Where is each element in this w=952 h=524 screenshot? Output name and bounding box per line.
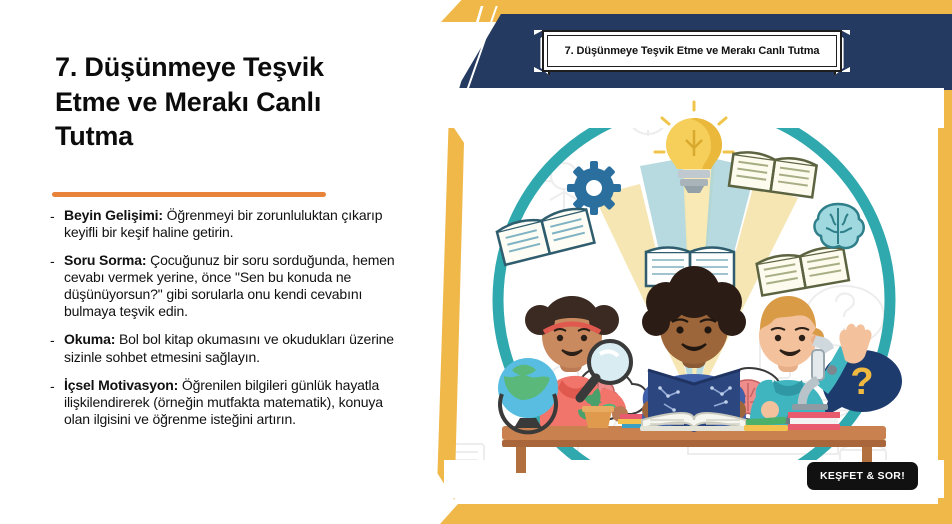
title-divider	[52, 192, 326, 197]
bullet-list: - Beyin Gelişimi: Öğrenmeyi bir zorunlul…	[50, 207, 400, 439]
question-mark-glyph: ?	[850, 361, 873, 403]
bullet-marker: -	[50, 377, 64, 395]
slide: 7. Düşünmeye Teşvik Etme ve Merakı Canlı…	[0, 0, 952, 524]
list-item-text: Soru Sorma: Çocuğunuz bir soru sorduğund…	[64, 252, 400, 320]
list-item: - İçsel Motivasyon: Öğrenilen bilgileri …	[50, 377, 400, 428]
list-item-text: Beyin Gelişimi: Öğrenmeyi bir zorunluluk…	[64, 207, 400, 241]
open-book-icon	[496, 205, 595, 265]
list-item: - Beyin Gelişimi: Öğrenmeyi bir zorunlul…	[50, 207, 400, 241]
boy-reading-book	[640, 266, 748, 432]
list-item-lead: İçsel Motivasyon:	[64, 377, 178, 393]
bullet-marker: -	[50, 252, 64, 270]
right-visual-panel: 7. Düşünmeye Teşvik Etme ve Merakı Canlı…	[430, 0, 952, 524]
bullet-marker: -	[50, 207, 64, 225]
banner-title: 7. Düşünmeye Teşvik Etme ve Merakı Canlı…	[534, 30, 850, 72]
list-item-lead: Beyin Gelişimi:	[64, 207, 163, 223]
list-item-lead: Okuma:	[64, 331, 115, 347]
status-badge: KEŞFET & SOR!	[807, 462, 918, 490]
left-content-panel: 7. Düşünmeye Teşvik Etme ve Merakı Canlı…	[0, 0, 430, 524]
bullet-marker: -	[50, 331, 64, 349]
children-learning-illustration: ?	[444, 88, 944, 498]
list-item-lead: Soru Sorma:	[64, 252, 146, 268]
globe-icon	[498, 358, 558, 432]
list-item-text: Okuma: Bol bol kitap okumasını ve okuduk…	[64, 331, 400, 365]
list-item-text: İçsel Motivasyon: Öğrenilen bilgileri gü…	[64, 377, 400, 428]
page-title: 7. Düşünmeye Teşvik Etme ve Merakı Canlı…	[55, 50, 385, 154]
list-item: - Soru Sorma: Çocuğunuz bir soru sorduğu…	[50, 252, 400, 320]
banner-title-plate: 7. Düşünmeye Teşvik Etme ve Merakı Canlı…	[534, 30, 850, 72]
list-item: - Okuma: Bol bol kitap okumasını ve okud…	[50, 331, 400, 365]
frame-band-bottom	[440, 504, 952, 524]
brain-icon	[814, 204, 863, 248]
